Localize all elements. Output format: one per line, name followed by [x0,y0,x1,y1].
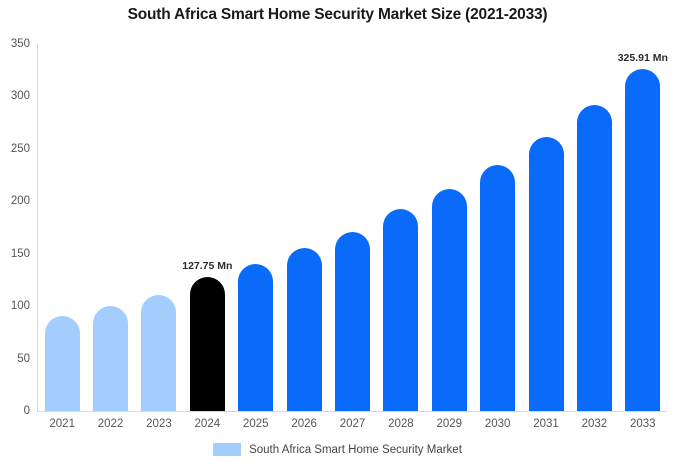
y-axis-tick-label: 350 [11,38,37,50]
x-axis-tick-label: 2033 [619,418,667,430]
bar-slot: 127.75 Mn [183,44,231,411]
x-axis-tick-label: 2024 [183,418,231,430]
y-axis-tick-label: 150 [11,248,37,260]
bar-slot [473,44,521,411]
bar-slot: 325.91 Mn [619,44,667,411]
bar-slot [232,44,280,411]
bar-chart: South Africa Smart Home Security Market … [0,0,675,469]
x-axis-tick-label: 2022 [86,418,134,430]
bar-2025[interactable] [238,264,273,411]
bar-value-label: 325.91 Mn [618,52,668,64]
bar-2026[interactable] [287,248,322,411]
y-axis-tick-label: 200 [11,195,37,207]
y-axis-tick-label: 300 [11,90,37,102]
y-axis-tick-label: 50 [17,353,37,365]
x-axis-tick-label: 2030 [473,418,521,430]
bar-2024[interactable] [190,277,225,411]
bar-2022[interactable] [93,306,128,411]
x-axis-tick-label: 2025 [232,418,280,430]
y-axis-tick-label: 0 [24,405,37,417]
y-axis-tick-label: 250 [11,143,37,155]
legend-label: South Africa Smart Home Security Market [249,444,462,456]
bar-2030[interactable] [480,165,515,411]
x-axis-tick-label: 2023 [135,418,183,430]
x-axis-tick-label: 2021 [38,418,86,430]
bar-slot [570,44,618,411]
x-axis-tick-label: 2032 [570,418,618,430]
bar-2029[interactable] [432,189,467,411]
bar-2031[interactable] [529,137,564,411]
x-axis-tick-label: 2026 [280,418,328,430]
x-axis-line [37,411,667,412]
chart-title: South Africa Smart Home Security Market … [0,6,675,24]
x-axis-tick-label: 2031 [522,418,570,430]
bar-series: 127.75 Mn325.91 Mn [38,44,667,411]
x-axis-tick-label: 2028 [377,418,425,430]
chart-legend: South Africa Smart Home Security Market [0,443,675,456]
bar-value-label: 127.75 Mn [182,260,232,272]
bar-2021[interactable] [45,316,80,411]
x-axis-tick-label: 2029 [425,418,473,430]
bar-slot [522,44,570,411]
bar-2033[interactable] [625,69,660,411]
bar-slot [38,44,86,411]
bar-slot [328,44,376,411]
bar-slot [86,44,134,411]
y-axis-tick-label: 100 [11,300,37,312]
bar-2027[interactable] [335,232,370,411]
bar-slot [377,44,425,411]
x-axis-tick-label: 2027 [328,418,376,430]
legend-swatch-icon [213,443,241,456]
bar-2028[interactable] [383,209,418,411]
bar-slot [135,44,183,411]
bar-2023[interactable] [141,295,176,411]
bar-slot [425,44,473,411]
bar-slot [280,44,328,411]
bar-2032[interactable] [577,105,612,411]
